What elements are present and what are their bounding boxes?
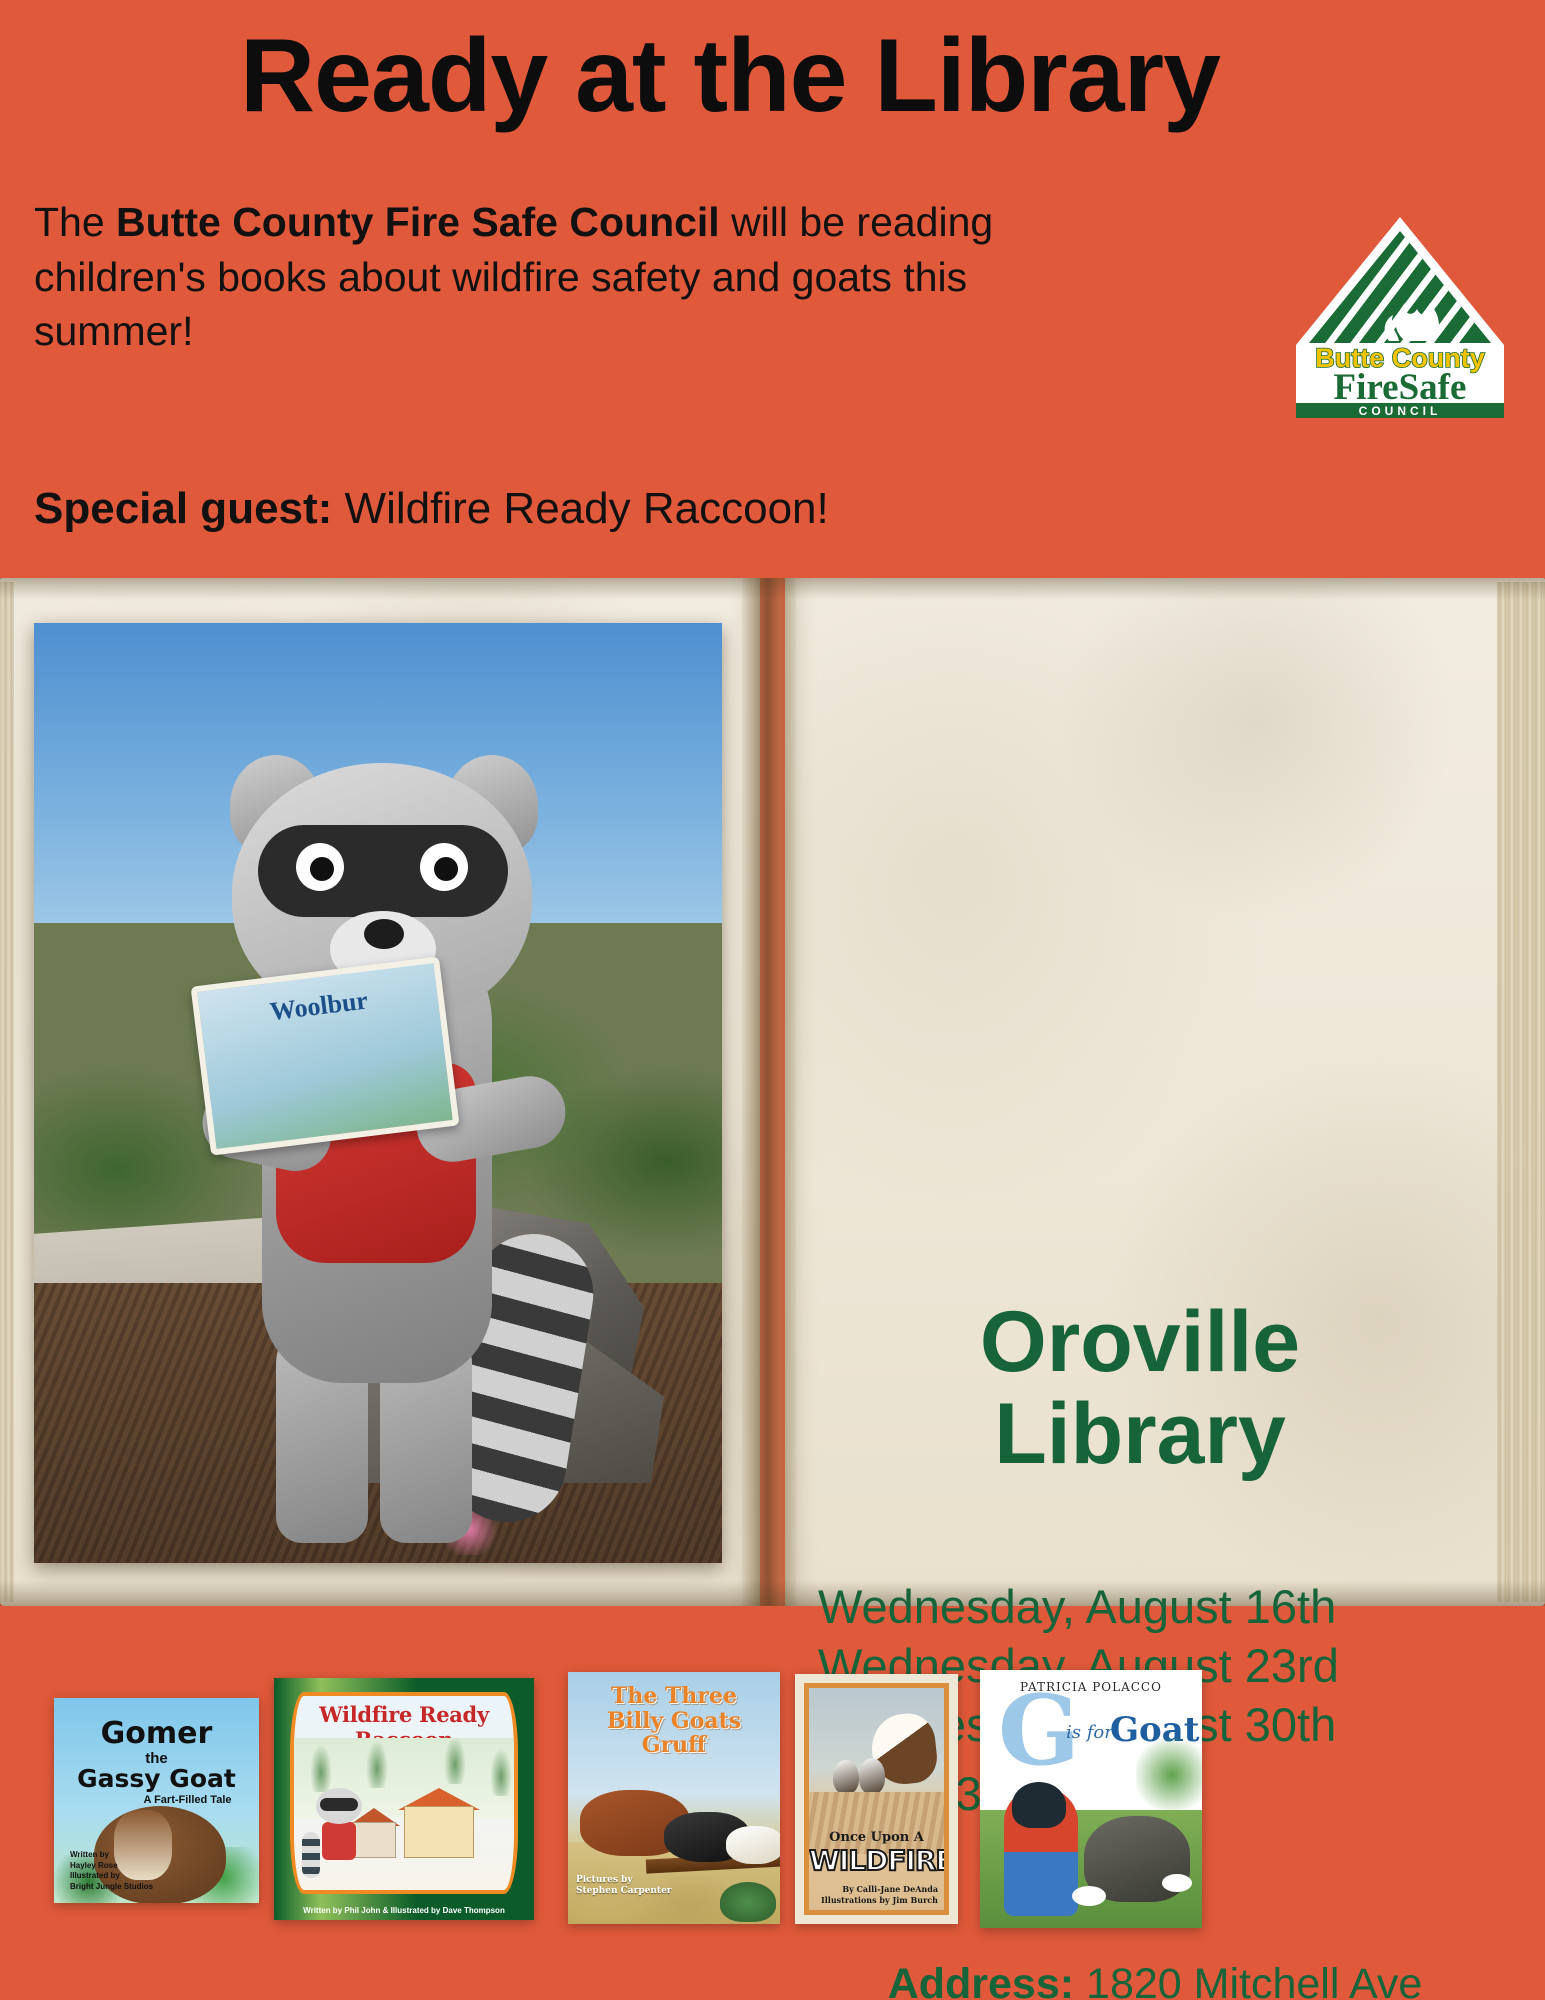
special-guest-label: Special guest: [34,484,332,533]
cover2-raccoon-character [312,1788,366,1880]
cover5-is-for: is for [1066,1722,1113,1743]
cover4-osprey-chick [833,1760,859,1794]
cover3-goat-small [726,1826,780,1864]
raccoon-mascot: Woolbur [184,763,584,1553]
raccoon-mascot-photo: Woolbur [34,623,722,1563]
raccoon-pupil-right [434,857,458,881]
cover5-flowering-bush [1136,1732,1202,1818]
open-book-graphic: Woolbur Oroville Library Wednesday, Augu… [0,578,1545,1606]
poster-header: Ready at the Library The Butte County Fi… [0,0,1545,578]
picture-book-held: Woolbur [191,956,460,1155]
special-guest-name: Wildfire Ready Raccoon! [332,484,828,533]
cover2-tree [310,1744,332,1792]
book-cover-wildfire-ready-raccoon: Wildfire Ready Raccoon Written by Phil J… [274,1678,534,1920]
intro-prefix: The [34,199,116,245]
library-name-line2: Library [785,1388,1495,1480]
cover2-house-large [404,1806,474,1858]
cover1-tagline: A Fart-Filled Tale [54,1794,259,1806]
cover4-inner-panel: Once Upon A WILDFIRE By Calli-Jane DeAnd… [804,1683,949,1915]
book-top-shadow [0,578,1545,600]
cover2-tree [490,1748,512,1796]
logo-line3: COUNCIL [1359,404,1442,418]
cover5-rabbit [1162,1874,1192,1892]
book-edge-right [1497,582,1545,1602]
cover4-osprey-chick [859,1758,885,1794]
cover5-girl-headscarf [1012,1782,1066,1828]
library-name: Oroville Library [785,1296,1495,1480]
book-cover-gomer-the-gassy-goat: Gomer the Gassy Goat A Fart-Filled Tale … [54,1698,259,1903]
cover2-inner-panel: Wildfire Ready Raccoon [290,1692,518,1894]
book-cover-once-upon-a-wildfire: Once Upon A WILDFIRE By Calli-Jane DeAnd… [795,1674,958,1924]
poster-root: Ready at the Library The Butte County Fi… [0,0,1545,2000]
picture-book-title: Woolbur [199,977,439,1036]
butte-county-fire-safe-council-logo: Butte County FireSafe COUNCIL [1293,215,1508,420]
book-cover-g-is-for-goat: PATRICIA POLACCO G is for Goat [980,1670,1202,1928]
featured-book-covers: Gomer the Gassy Goat A Fart-Filled Tale … [0,1660,1545,2000]
logo-line2: FireSafe [1334,367,1467,408]
cover2-raccoon-vest [322,1822,356,1860]
cover2-tree [444,1736,466,1784]
cover2-raccoon-mask [320,1798,358,1811]
special-guest-line: Special guest: Wildfire Ready Raccoon! [34,483,1234,536]
library-name-line1: Oroville [785,1296,1495,1388]
cover4-credits: By Calli-Jane DeAnda Illustrations by Ji… [821,1884,938,1906]
cover1-title: Gomer [54,1716,259,1751]
raccoon-nose [364,919,404,949]
cover2-credits: Written by Phil John & Illustrated by Da… [274,1906,534,1915]
cover1-credits: Written by Hayley Rose Illustrated by Br… [54,1850,259,1893]
page-title: Ready at the Library [0,22,1460,131]
book-edge-left [0,582,14,1602]
raccoon-pupil-left [310,857,334,881]
cover2-raccoon-tail [302,1832,320,1878]
intro-paragraph: The Butte County Fire Safe Council will … [34,195,1034,359]
cover5-rabbit [1072,1886,1106,1906]
book-cover-three-billy-goats-gruff: The Three Billy Goats Gruff Pictures by … [568,1672,780,1924]
cover2-tree [366,1740,388,1788]
cover4-title-big: WILDFIRE [809,1844,944,1877]
intro-organization: Butte County Fire Safe Council [116,199,720,245]
cover3-title: The Three Billy Goats Gruff [568,1684,780,1758]
event-date: Wednesday, August 16th [818,1578,1518,1637]
cover3-troll [720,1882,776,1922]
cover3-credits: Pictures by Stephen Carpenter [576,1875,672,1898]
cover4-title-small: Once Upon A [809,1830,944,1845]
cover1-subtitle: Gassy Goat [54,1764,259,1793]
